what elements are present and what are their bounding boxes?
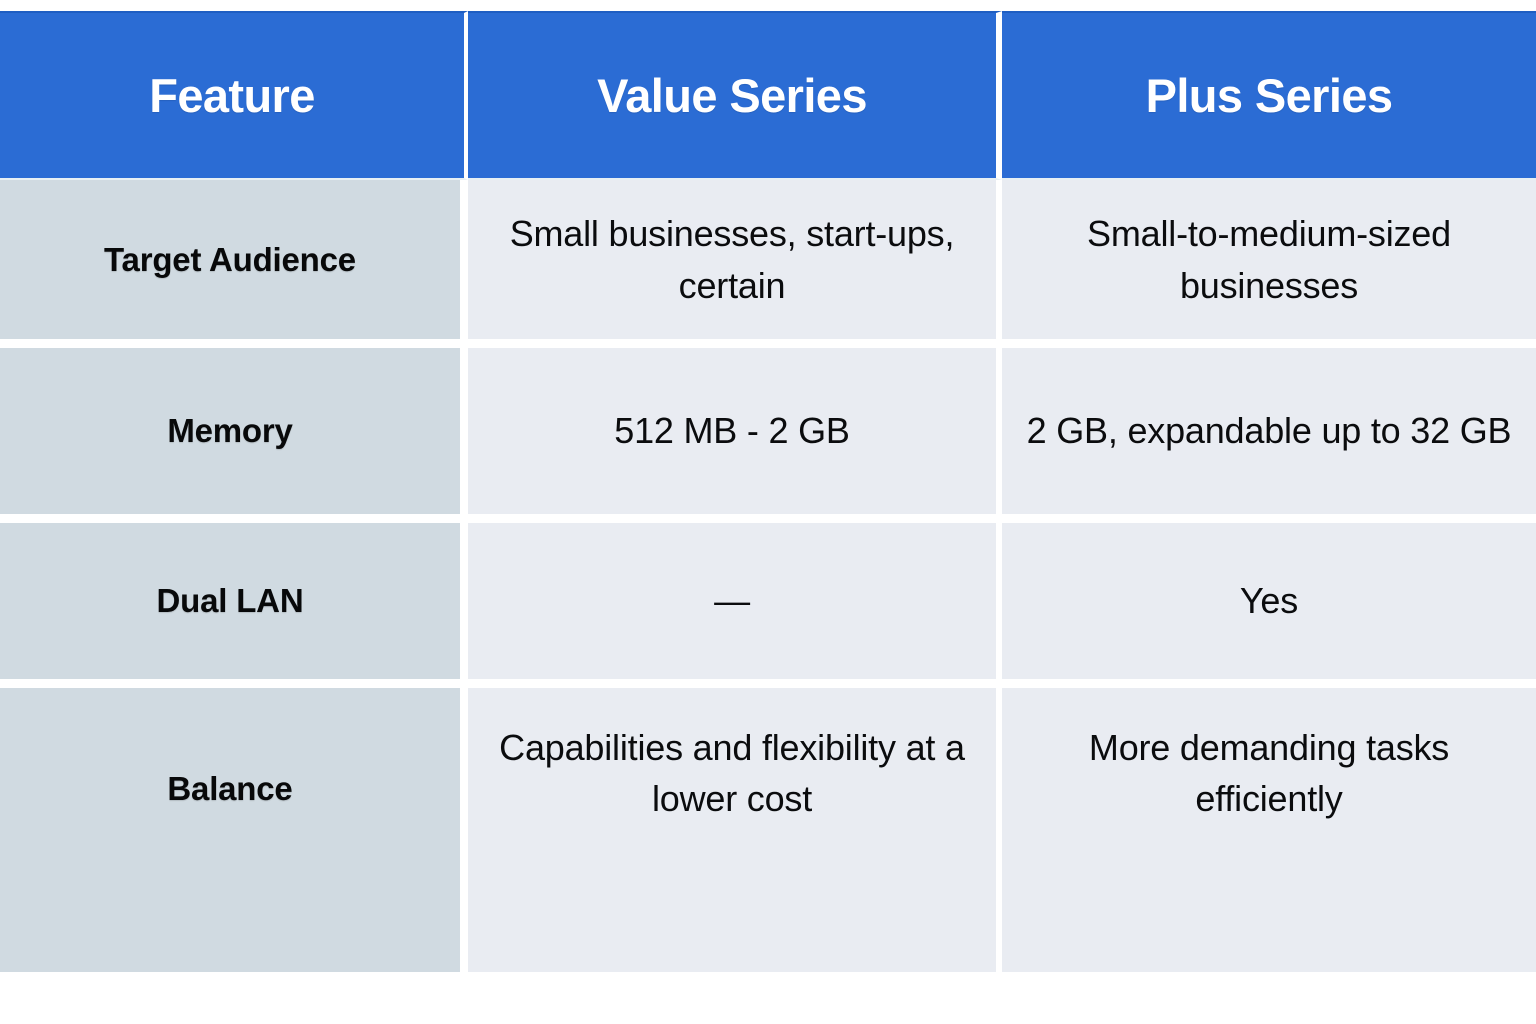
cell-memory-value-series: 512 MB - 2 GB [468, 348, 1002, 523]
cell-balance-value-series: Capabilities and flexibility at a lower … [468, 688, 1002, 988]
table-row-dual-lan: Dual LAN — Yes [0, 523, 1536, 688]
cell-target-audience-plus-series: Small-to-medium-sized businesses [1002, 180, 1536, 348]
cell-dual-lan-value-series: — [468, 523, 1002, 688]
feature-comparison-table: Feature Value Series Plus Series Target … [0, 11, 1536, 988]
table-header: Feature Value Series Plus Series [0, 11, 1536, 180]
row-label-balance: Balance [0, 688, 468, 988]
cell-target-audience-value-series: Small businesses, start-ups, certain [468, 180, 1002, 348]
row-label-dual-lan: Dual LAN [0, 523, 468, 688]
column-header-plus-series[interactable]: Plus Series [1002, 11, 1536, 180]
header-row: Feature Value Series Plus Series [0, 11, 1536, 180]
table-body: Target Audience Small businesses, start-… [0, 180, 1536, 988]
row-label-target-audience: Target Audience [0, 180, 468, 348]
table-row-memory: Memory 512 MB - 2 GB 2 GB, expandable up… [0, 348, 1536, 523]
cell-dual-lan-plus-series: Yes [1002, 523, 1536, 688]
cell-memory-plus-series: 2 GB, expandable up to 32 GB [1002, 348, 1536, 523]
table-row-balance: Balance Capabilities and flexibility at … [0, 688, 1536, 988]
cell-balance-plus-series: More demanding tasks efficiently [1002, 688, 1536, 988]
row-label-memory: Memory [0, 348, 468, 523]
column-header-value-series[interactable]: Value Series [468, 11, 1002, 180]
table-row-target-audience: Target Audience Small businesses, start-… [0, 180, 1536, 348]
column-header-feature[interactable]: Feature [0, 11, 468, 180]
